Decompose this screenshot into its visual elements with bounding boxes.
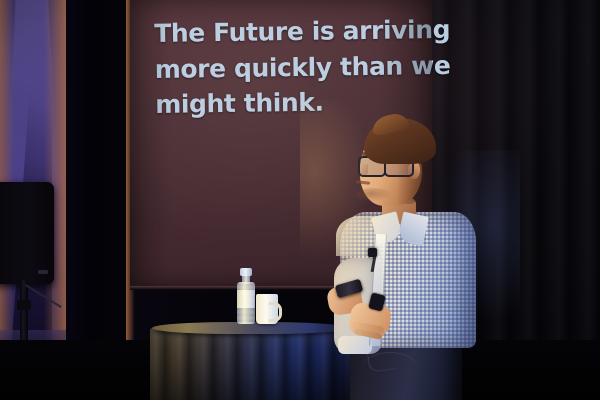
slide-text: The Future is arriving more quickly than… — [154, 12, 423, 122]
presentation-photo: The Future is arriving more quickly than… — [0, 0, 600, 400]
chin-shadow — [356, 188, 392, 202]
presenter-mouth — [356, 180, 370, 184]
slide-line-2: more quickly than we — [154, 48, 422, 87]
mug-handle — [269, 302, 282, 322]
pa-speaker — [0, 182, 54, 284]
coffee-mug — [256, 294, 282, 324]
water-bottle — [237, 268, 255, 324]
presenter — [316, 118, 492, 400]
bottle-cap — [240, 268, 252, 276]
slide-line-1: The Future is arriving — [154, 12, 422, 51]
shirt-cuff — [338, 336, 372, 354]
bottle-label — [237, 290, 255, 308]
